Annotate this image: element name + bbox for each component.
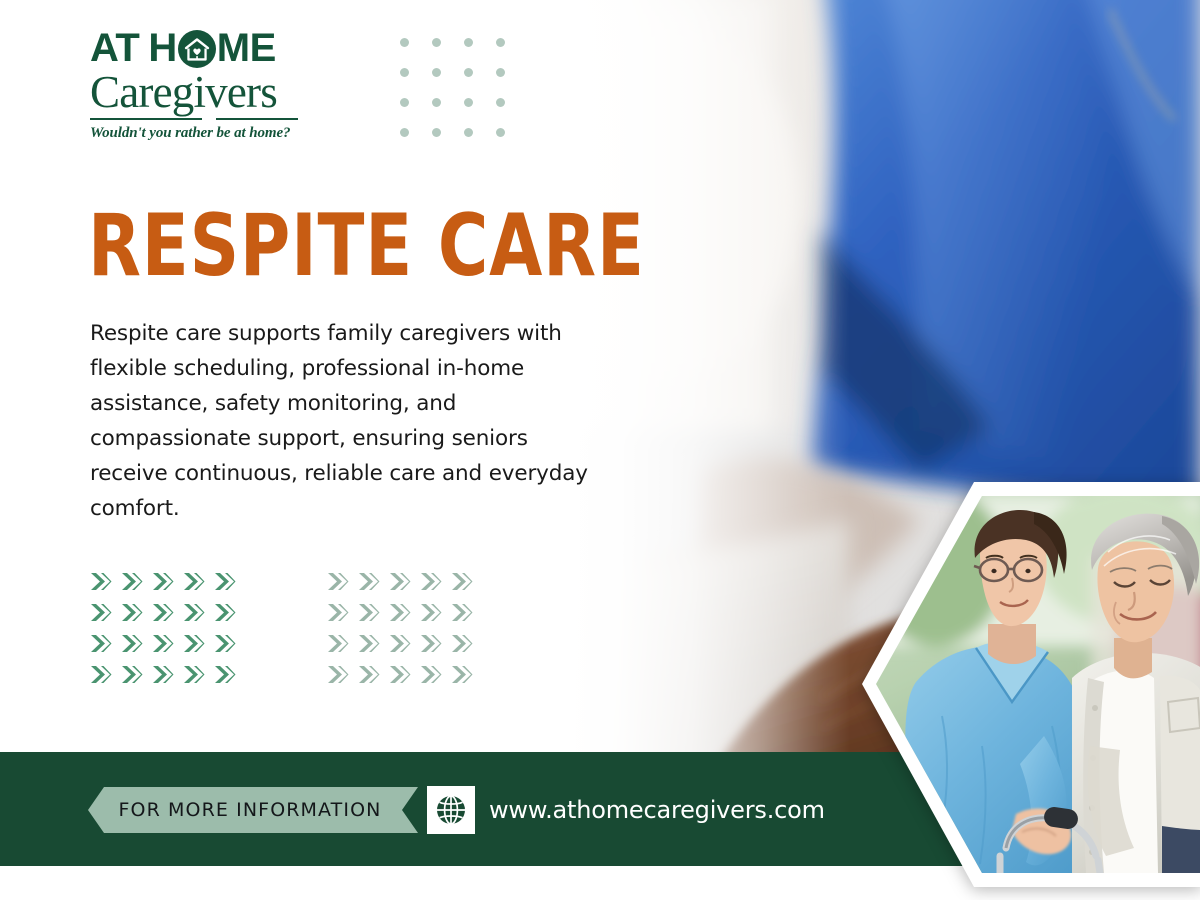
logo-wordmark-bottom: Caregivers [90,70,390,115]
chevron-right-icon [183,603,205,622]
dot-decoration [432,68,441,77]
brand-logo: AT H ME Caregivers Wouldn't you rather b… [90,28,390,142]
logo-tagline: Wouldn't you rather be at home? [90,125,390,142]
chevron-right-icon [121,665,143,684]
chevron-right-icon [420,665,442,684]
chevron-right-icon [451,603,473,622]
chevron-right-icon [121,572,143,591]
chevron-right-icon [327,603,349,622]
globe-icon [427,786,475,834]
chevron-right-icon [214,603,236,622]
chevron-right-icon [90,572,112,591]
chevron-right-icon [389,634,411,653]
chevron-right-icon [152,665,174,684]
dot-decoration [464,68,473,77]
chevron-right-icon [214,634,236,653]
chevron-right-icon [358,665,380,684]
dot-decoration [464,38,473,47]
chevron-right-icon [451,665,473,684]
chevron-right-icon [358,603,380,622]
dot-decoration [432,98,441,107]
chevron-right-icon [327,634,349,653]
chevron-right-icon [358,572,380,591]
flyer-canvas: AT H ME Caregivers Wouldn't you rather b… [0,0,1200,900]
dot-decoration [464,98,473,107]
chevron-right-icon [389,603,411,622]
dot-grid-decoration [400,38,528,158]
chevron-right-icon [420,634,442,653]
logo-word-at: AT [90,28,139,68]
home-heart-icon [178,30,216,68]
chevron-right-icon [183,665,205,684]
page-title: RESPITE CARE [88,206,645,288]
chevron-right-icon [214,665,236,684]
dot-decoration [496,128,505,137]
dot-decoration [400,98,409,107]
logo-divider-rules [90,118,298,120]
cta-label: FOR MORE INFORMATION [119,799,388,821]
logo-word-h: H [148,28,176,68]
chevron-right-icon [327,665,349,684]
chevron-right-icon [90,634,112,653]
chevron-right-icon [152,634,174,653]
logo-word-me: ME [217,28,276,68]
logo-rule-right [216,118,298,120]
logo-wordmark-top: AT H ME [90,28,390,68]
chevron-right-icon [389,665,411,684]
chevron-right-icon [152,572,174,591]
dot-decoration [496,38,505,47]
chevron-right-icon [121,603,143,622]
inset-photo-image [876,496,1200,873]
inset-caregiver-photo [862,482,1200,887]
dot-decoration [464,128,473,137]
dot-decoration [432,128,441,137]
chevron-right-icon [183,572,205,591]
chevron-grid-right [327,572,482,696]
dot-decoration [496,98,505,107]
chevron-right-icon [451,572,473,591]
chevron-grid-left [90,572,245,696]
dot-decoration [400,38,409,47]
chevron-right-icon [152,603,174,622]
dot-decoration [432,38,441,47]
dot-decoration [496,68,505,77]
chevron-right-icon [183,634,205,653]
website-url[interactable]: www.athomecaregivers.com [489,796,825,824]
logo-rule-left [90,118,202,120]
chevron-right-icon [451,634,473,653]
chevron-right-icon [121,634,143,653]
for-more-information-banner[interactable]: FOR MORE INFORMATION [88,787,418,833]
chevron-right-icon [389,572,411,591]
chevron-right-icon [90,603,112,622]
chevron-right-icon [90,665,112,684]
chevron-right-icon [327,572,349,591]
chevron-right-icon [420,603,442,622]
chevron-right-icon [420,572,442,591]
chevron-right-icon [214,572,236,591]
body-copy: Respite care supports family caregivers … [90,316,602,526]
dot-decoration [400,128,409,137]
chevron-right-icon [358,634,380,653]
dot-decoration [400,68,409,77]
